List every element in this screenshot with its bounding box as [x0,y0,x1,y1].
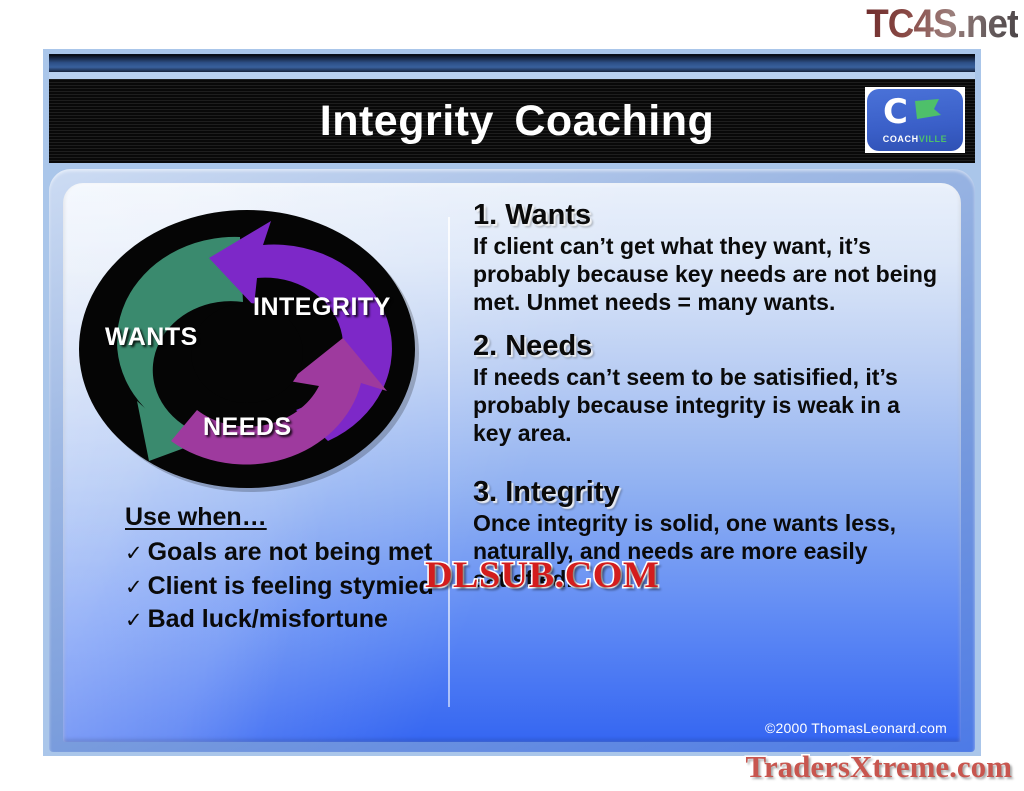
section-body: If needs can’t seem to be satisified, it… [473,364,943,447]
section-heading: 1. Wants [473,199,943,232]
section-needs: 2. Needs If needs can’t seem to be satis… [473,330,943,447]
slide-content: WANTS INTEGRITY NEEDS Use when… ✓ Goals … [63,183,961,742]
list-item: ✓ Bad luck/misfortune [125,603,455,637]
use-when-title: Use when… [125,503,455,532]
section-body: If client can’t get what they want, it’s… [473,233,943,316]
logo-word-coach: COACH [883,134,919,144]
slide-title-bar: Integrity Coaching C COACHVILLE [49,79,975,163]
diagram-label-wants: WANTS [105,323,198,352]
list-item-label: Goals are not being met [148,536,433,570]
flag-icon [913,98,943,122]
section-wants: 1. Wants If client can’t get what they w… [473,199,943,316]
page-title: Integrity Coaching [320,97,714,146]
site-watermark-top: TC4S.net [866,2,1018,47]
diagram-label-needs: NEEDS [203,413,292,442]
copyright-notice: ©2000 ThomasLeonard.com [765,720,947,736]
section-heading: 3. Integrity [473,476,943,509]
list-item-label: Bad luck/misfortune [148,603,388,637]
logo-wordmark: COACHVILLE [867,134,963,144]
frame-top-gap [49,72,975,79]
wants-needs-integrity-cycle-diagram: WANTS INTEGRITY NEEDS [75,205,427,495]
tradersxtreme-watermark: TradersXtreme.com [745,749,1012,785]
check-icon: ✓ [125,606,143,634]
sections-column: 1. Wants If client can’t get what they w… [473,199,943,593]
check-icon: ✓ [125,573,143,601]
list-item-label: Client is feeling stymied [148,570,434,604]
use-when-block: Use when… ✓ Goals are not being met ✓ Cl… [125,503,455,637]
list-item: ✓ Goals are not being met [125,536,455,570]
diagram-label-integrity: INTEGRITY [253,293,391,322]
frame-top-bar [49,54,975,72]
coachville-logo: C COACHVILLE [865,87,965,153]
dlsub-watermark: DLSUB.COM [425,554,659,597]
logo-letter: C [883,95,908,129]
slide-frame: Integrity Coaching C COACHVILLE [43,49,981,756]
section-heading: 2. Needs [473,330,943,363]
logo-badge: C COACHVILLE [867,89,963,151]
slide-bevel: WANTS INTEGRITY NEEDS Use when… ✓ Goals … [49,169,975,752]
check-icon: ✓ [125,539,143,567]
logo-word-ville: VILLE [919,134,948,144]
list-item: ✓ Client is feeling stymied [125,570,455,604]
